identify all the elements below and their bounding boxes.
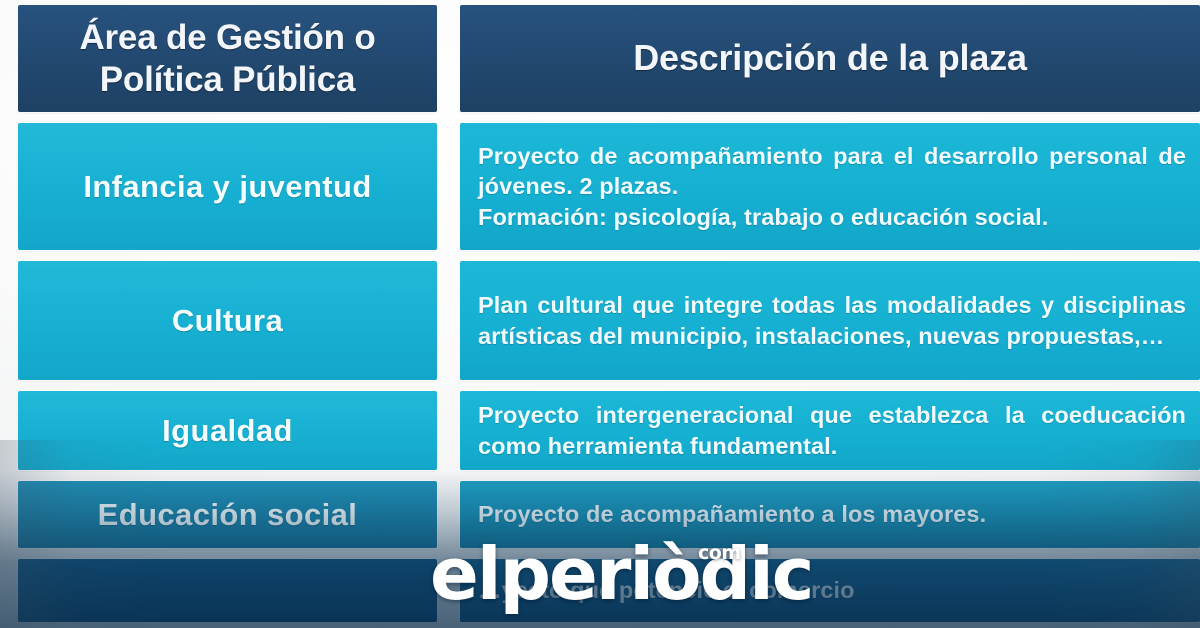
area-label: Educación social [98,496,358,533]
table-header-description: Descripción de la plaza [460,5,1200,112]
table-row: Igualdad [18,391,437,470]
description-text: Proyecto intergeneracional que establezc… [478,400,1186,460]
description-text: Plan cultural que integre todas las moda… [478,290,1186,350]
table-row: Proyecto intergeneracional que establezc… [460,391,1200,470]
table-row: Infancia y juventud [18,123,437,250]
description-line: Proyecto de acompañamiento para el desar… [478,143,1186,199]
description-text: Proyecto de acompañamiento para el desar… [478,141,1186,231]
description-text: …yecto que potencie el comercio [478,575,1186,605]
table-row: …yecto que potencie el comercio [460,559,1200,622]
table-header-area-label: Área de Gestión o Política Pública [32,17,423,100]
plazas-table: Área de Gestión o Política Pública Descr… [0,0,1200,628]
table-header-area: Área de Gestión o Política Pública [18,5,437,112]
description-text: Proyecto de acompañamiento a los mayores… [478,499,1186,529]
table-row: Educación social [18,481,437,548]
table-header-description-label: Descripción de la plaza [633,37,1027,79]
table-row: Proyecto de acompañamiento para el desar… [460,123,1200,250]
table-row: Cultura [18,261,437,380]
table-row: Plan cultural que integre todas las moda… [460,261,1200,380]
description-line: Formación: psicología, trabajo o educaci… [478,204,1048,230]
area-label: Cultura [172,302,283,339]
area-label: Infancia y juventud [83,168,371,205]
screenshot-root: Área de Gestión o Política Pública Descr… [0,0,1200,628]
table-row: Proyecto de acompañamiento a los mayores… [460,481,1200,548]
table-row [18,559,437,622]
area-label: Igualdad [162,412,293,449]
